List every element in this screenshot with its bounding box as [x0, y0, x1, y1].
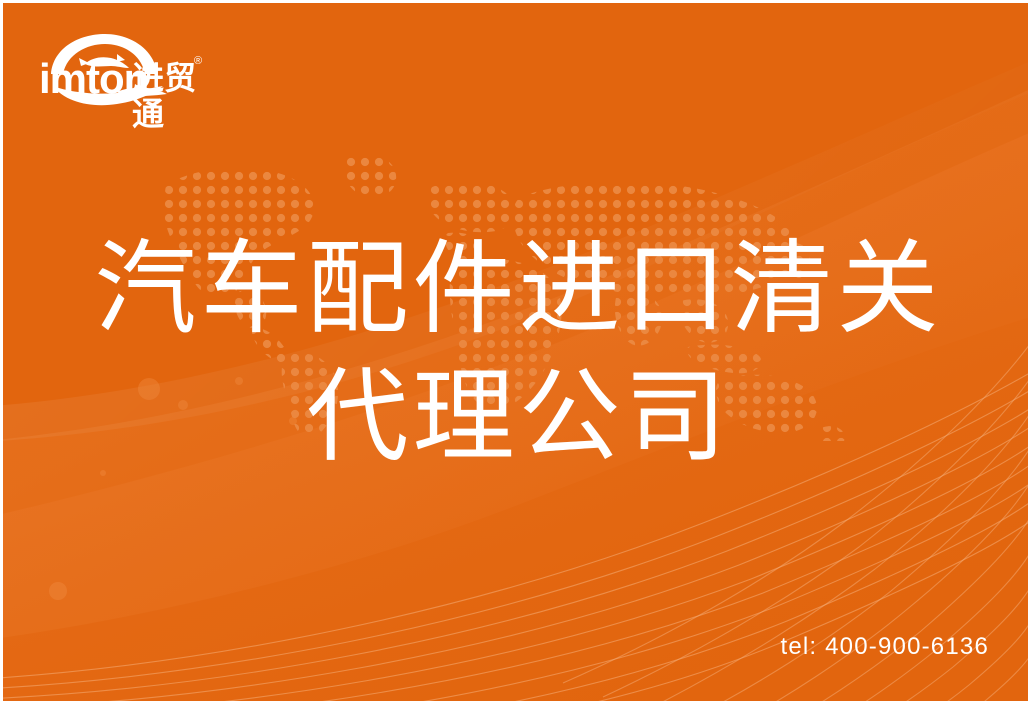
registered-trademark-icon: ®: [194, 56, 202, 67]
brand-logo[interactable]: imton 进贸通 ®: [39, 30, 219, 106]
page-title: 汽车配件进口清关 代理公司: [3, 225, 1031, 481]
promo-banner: imton 进贸通 ® 汽车配件进口清关 代理公司 tel: 400-900-6…: [0, 0, 1031, 704]
page-title-line-2: 代理公司: [3, 353, 1031, 481]
page-title-line-1: 汽车配件进口清关: [3, 225, 1031, 353]
contact-phone[interactable]: tel: 400-900-6136: [780, 633, 989, 661]
logo-chinese-name: 进贸通: [132, 60, 219, 132]
